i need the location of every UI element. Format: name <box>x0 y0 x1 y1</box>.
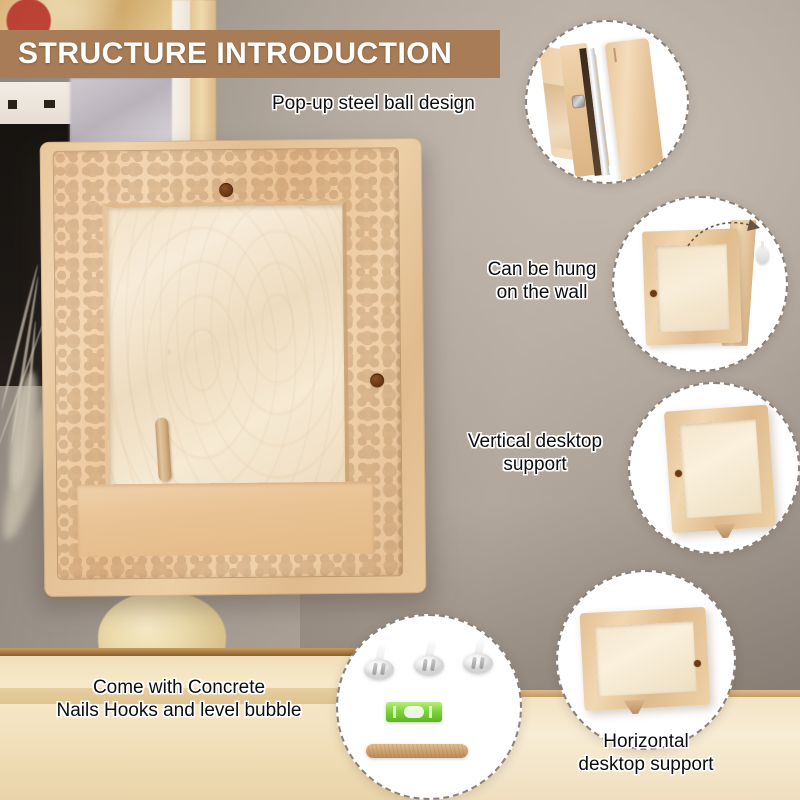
steel-ball-peg <box>694 660 701 667</box>
metal-screw-icon <box>572 95 584 107</box>
concrete-nail-hook-icon <box>414 646 444 676</box>
plywood-grain-texture <box>106 205 345 486</box>
callout-label-accessories: Come with Concrete Nails Hooks and level… <box>24 676 334 722</box>
standing-frame-portrait <box>664 405 776 534</box>
rotation-arrow-icon <box>684 216 764 256</box>
infographic-canvas: STRUCTURE INTRODUCTION <box>0 0 800 800</box>
steel-ball-scene <box>527 22 687 182</box>
level-bubble-icon <box>386 702 442 722</box>
product-frame <box>40 138 427 597</box>
callout-label-horizontal-support: Horizontal desktop support <box>556 730 736 776</box>
wall-mount-scene <box>614 198 786 370</box>
frame-inner-body <box>54 148 402 579</box>
accessories-scene <box>338 616 520 798</box>
page-title: STRUCTURE INTRODUCTION <box>0 37 452 71</box>
wooden-support-rod <box>366 744 468 758</box>
hook-base <box>463 653 493 674</box>
standing-frame-panel <box>679 419 762 518</box>
inset-accessories <box>336 614 522 800</box>
horizontal-support-scene <box>558 572 734 748</box>
inset-pop-up-steel-ball <box>525 20 689 184</box>
concrete-nail-hook-icon <box>463 644 493 674</box>
inset-horizontal-support <box>556 570 736 750</box>
callout-label-wall-mount: Can be hung on the wall <box>462 258 622 304</box>
frame-backing-panel <box>106 205 345 486</box>
steel-ball-peg <box>650 290 657 297</box>
steel-ball-peg-right <box>370 373 384 387</box>
concrete-nail-hook-icon <box>364 650 394 680</box>
steel-ball-peg <box>675 470 682 477</box>
hook-base <box>364 659 394 680</box>
inset-vertical-support <box>628 382 800 554</box>
support-stand-tab <box>714 523 737 539</box>
frame-bottom-rail <box>77 482 374 557</box>
hook-base <box>414 655 444 676</box>
title-banner: STRUCTURE INTRODUCTION <box>0 30 500 78</box>
background-artwork-white <box>0 82 72 124</box>
callout-label-pop-up-steel-ball: Pop-up steel ball design <box>272 92 522 115</box>
inset-wall-mount <box>612 196 788 372</box>
standing-frame-landscape <box>580 607 711 711</box>
steel-ball-peg-top <box>219 183 233 197</box>
wall-frame-panel <box>656 244 730 332</box>
standing-frame-panel <box>594 621 697 696</box>
callout-label-vertical-support: Vertical desktop support <box>440 430 630 476</box>
vertical-support-scene <box>630 384 798 552</box>
